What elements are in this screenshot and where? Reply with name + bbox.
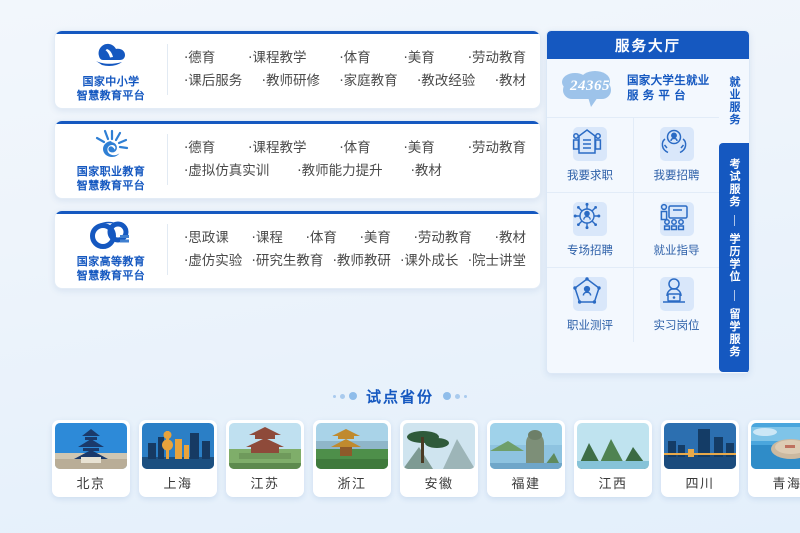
platform-logo: 国家职业教育 智慧教育平台 [55,121,167,198]
jiangxi-karst-thumb [577,423,649,469]
service-item-label: 我要求职 [567,167,613,183]
platform-tag[interactable]: ·课程教学 [248,137,306,160]
service-item-recruit[interactable]: 我要招聘 [633,117,719,192]
decor-dots-left [333,392,357,400]
service-item-internship[interactable]: 实习岗位 [633,267,719,342]
platform-tag[interactable]: ·课程教学 [248,47,306,70]
platform-tag[interactable]: ·教师能力提升 [297,160,382,183]
platform-tag[interactable]: ·教师研修 [262,70,320,93]
platform-card-primary-secondary[interactable]: 国家中小学 智慧教育平台 ·德育 ·课程教学 ·体育 ·美育 ·劳动教育 ·课后… [54,30,541,109]
tab-exam-service[interactable]: 考试服务 [726,158,742,208]
platform-tag[interactable]: ·虚拟仿真实训 [184,160,269,183]
platform-card-higher-education[interactable]: 国家高等教育 智慧教育平台 ·思政课 ·课程 ·体育 ·美育 ·劳动教育 ·教材… [54,210,541,289]
province-name: 浙江 [313,469,391,496]
platform-tag[interactable]: ·美育 [404,137,435,160]
tab-separator [734,215,735,226]
province-name: 青海 [748,469,800,496]
province-card[interactable]: 江苏 [226,420,304,497]
platform-tag-row: ·德育 ·课程教学 ·体育 ·美育 ·劳动教育 [184,47,526,70]
service-item-label: 实习岗位 [654,317,700,333]
platform-tag-row: ·课后服务 ·教师研修 ·家庭教育 ·教改经验 ·教材 [184,70,526,93]
platform-tag-group: ·思政课 ·课程 ·体育 ·美育 ·劳动教育 ·教材 ·虚仿实验 ·研究生教育 … [168,219,540,281]
province-card[interactable]: 福建 [487,420,565,497]
service-grid: 我要求职 [547,117,719,342]
service-hall-brand-text: 国家大学生就业 服务平台 [627,73,710,103]
platform-logo-name: 国家中小学 智慧教育平台 [77,75,145,102]
platform-card-list: 国家中小学 智慧教育平台 ·德育 ·课程教学 ·体育 ·美育 ·劳动教育 ·课后… [54,30,541,300]
service-hall-tabs: 就业服务 考试服务 学历学位 留学服务 [719,59,749,372]
platform-logo-name: 国家职业教育 智慧教育平台 [77,165,145,192]
province-card[interactable]: 青海 [748,420,800,497]
platform-tag[interactable]: ·教材 [495,227,526,250]
province-name: 江苏 [226,469,304,496]
service-hall-panel: 服务大厅 24365 国家大学生就业 服务平台 [546,30,750,374]
shanghai-skyline-thumb [142,423,214,469]
province-name: 四川 [661,469,739,496]
province-card[interactable]: 北京 [52,420,130,497]
service-item-label: 职业测评 [567,317,613,333]
platform-tag[interactable]: ·劳动教育 [468,47,526,70]
platform-logo-name-line1: 国家中小学 [77,75,145,89]
jiangsu-pavilion-thumb [229,423,301,469]
platform-logo-name: 国家高等教育 智慧教育平台 [77,255,145,282]
platform-tag[interactable]: ·体育 [306,227,337,250]
cloud-book-logo-icon [91,38,131,72]
westlake-pavilion-thumb [316,423,388,469]
temple-of-heaven-thumb [55,423,127,469]
brand-line1: 国家大学生就业 [627,73,710,88]
service-item-guidance[interactable]: 就业指导 [633,192,719,267]
section-title-text: 试点省份 [366,386,434,407]
tab-degree-service[interactable]: 学历学位 [726,233,742,283]
platform-tag[interactable]: ·美育 [404,47,435,70]
platform-tag-row: ·虚拟仿真实训 ·教师能力提升 ·教材 [184,160,526,183]
brand-line2: 服务平台 [627,88,710,103]
lecture-board-icon [660,202,694,236]
platform-tag[interactable]: ·德育 [184,137,215,160]
platform-tag[interactable]: ·劳动教育 [468,137,526,160]
platform-tag[interactable]: ·课外成长 [400,250,458,273]
platform-tag[interactable]: ·思政课 [184,227,229,250]
decor-dots-right [443,392,467,400]
platform-tag[interactable]: ·课程 [252,227,283,250]
platform-tag-group: ·德育 ·课程教学 ·体育 ·美育 ·劳动教育 ·课后服务 ·教师研修 ·家庭教… [168,39,540,101]
province-name: 福建 [487,469,565,496]
tab-study-abroad-service[interactable]: 留学服务 [726,308,742,358]
building-jobseeker-icon [573,127,607,161]
platform-logo: 国家中小学 智慧教育平台 [55,31,167,108]
province-name: 安徽 [400,469,478,496]
platform-tag[interactable]: ·美育 [360,227,391,250]
pentagon-person-icon [573,277,607,311]
service-item-label: 专场招聘 [567,242,613,258]
tab-group-inactive: 考试服务 学历学位 留学服务 [719,143,749,372]
service-item-label: 我要招聘 [654,167,700,183]
service-item-label: 就业指导 [654,242,700,258]
platform-tag[interactable]: ·德育 [184,47,215,70]
service-item-special-recruit[interactable]: 专场招聘 [547,192,633,267]
double-circle-logo-icon [89,218,133,252]
platform-tag-row: ·思政课 ·课程 ·体育 ·美育 ·劳动教育 ·教材 [184,227,526,250]
province-name: 上海 [139,469,217,496]
province-card[interactable]: 上海 [139,420,217,497]
platform-tag[interactable]: ·体育 [339,137,370,160]
province-card[interactable]: 浙江 [313,420,391,497]
tab-employment-service[interactable]: 就业服务 [719,59,749,143]
platform-tag[interactable]: ·院士讲堂 [468,250,526,273]
provinces-section-title: 试点省份 [0,384,800,408]
platform-tag[interactable]: ·家庭教育 [339,70,397,93]
platform-tag-row: ·德育 ·课程教学 ·体育 ·美育 ·劳动教育 [184,137,526,160]
province-name: 北京 [52,469,130,496]
qinghai-lake-rock-thumb [751,423,800,469]
24365-number: 24365 [555,68,625,104]
province-card[interactable]: 安徽 [400,420,478,497]
platform-card-vocational[interactable]: 国家职业教育 智慧教育平台 ·德育 ·课程教学 ·体育 ·美育 ·劳动教育 ·虚… [54,120,541,199]
tab-separator [734,290,735,301]
platform-tag-group: ·德育 ·课程教学 ·体育 ·美育 ·劳动教育 ·虚拟仿真实训 ·教师能力提升 … [168,129,540,191]
platform-logo-name-line2: 智慧教育平台 [77,179,145,193]
platform-logo-name-line1: 国家职业教育 [77,165,145,179]
fujian-cliff-thumb [490,423,562,469]
hands-person-icon [660,127,694,161]
platform-logo: 国家高等教育 智慧教育平台 [55,211,167,288]
province-name: 江西 [574,469,652,496]
platform-logo-name-line2: 智慧教育平台 [77,269,145,283]
service-hall-brand: 24365 国家大学生就业 服务平台 [547,59,719,117]
province-card[interactable]: 四川 [661,420,739,497]
platform-tag[interactable]: ·课后服务 [184,70,242,93]
service-hall-body: 24365 国家大学生就业 服务平台 [547,59,749,372]
platform-tag[interactable]: ·教材 [411,160,442,183]
huangshan-pine-thumb [403,423,475,469]
platform-tag[interactable]: ·研究生教育 [252,250,324,273]
platform-logo-name-line2: 智慧教育平台 [77,89,145,103]
24365-bubble-icon: 24365 [555,68,625,108]
platform-tag[interactable]: ·教材 [495,70,526,93]
service-hall-content: 24365 国家大学生就业 服务平台 [547,59,719,372]
page-root: 国家中小学 智慧教育平台 ·德育 ·课程教学 ·体育 ·美育 ·劳动教育 ·课后… [0,0,800,533]
service-item-assessment[interactable]: 职业测评 [547,267,633,342]
platform-tag[interactable]: ·教改经验 [417,70,475,93]
platform-logo-name-line1: 国家高等教育 [77,255,145,269]
platform-tag[interactable]: ·虚仿实验 [184,250,242,273]
province-card[interactable]: 江西 [574,420,652,497]
laptop-person-icon [660,277,694,311]
platform-tag[interactable]: ·教师教研 [333,250,391,273]
province-card-list: 北京 上海 [52,420,800,497]
platform-tag-row: ·虚仿实验 ·研究生教育 ·教师教研 ·课外成长 ·院士讲堂 [184,250,526,273]
service-hall-title: 服务大厅 [547,31,749,59]
service-item-jobseek[interactable]: 我要求职 [547,117,633,192]
platform-tag[interactable]: ·体育 [339,47,370,70]
network-person-icon [573,202,607,236]
chengdu-skyline-thumb [664,423,736,469]
platform-tag[interactable]: ·劳动教育 [414,227,472,250]
spark-swirl-logo-icon [91,128,131,162]
